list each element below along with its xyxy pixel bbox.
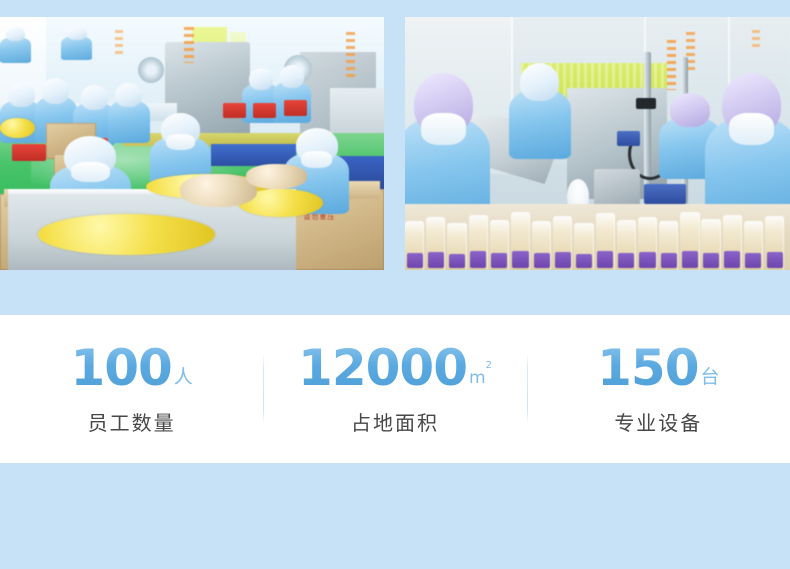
photo-band: 请勿重压 <box>0 17 790 270</box>
stat-floor-area-label: 占地面积 <box>263 407 526 436</box>
photo-scene-right <box>405 17 790 270</box>
stat-employees-number: 100 <box>70 339 171 397</box>
packed-product <box>617 220 636 270</box>
carton-label-text: 请勿重压 <box>303 214 335 221</box>
stat-floor-area-number: 12000 <box>298 339 467 397</box>
packed-product <box>723 215 742 270</box>
orange-coil-b <box>346 32 355 78</box>
packed-product <box>532 221 551 270</box>
red-stool-3 <box>223 103 246 118</box>
photo-factory-packing-line: 请勿重压 <box>0 17 384 270</box>
stat-employees-value: 100人 <box>0 343 263 393</box>
blue-crate <box>211 144 295 167</box>
packed-product <box>765 216 784 270</box>
packed-product <box>638 217 657 270</box>
packed-product <box>680 212 699 270</box>
packed-product-row <box>405 204 790 270</box>
red-stool-5 <box>284 100 307 115</box>
photo-cleanroom-packaging-machine <box>405 17 790 270</box>
packed-product <box>596 213 615 270</box>
worker-bg-4 <box>108 83 150 144</box>
orange-coil-right-c <box>752 30 760 48</box>
stat-equipment-value: 150台 <box>527 343 790 393</box>
stat-equipment-label: 专业设备 <box>527 407 790 436</box>
worker-bg-7 <box>0 27 31 62</box>
stat-equipment-number: 150 <box>597 339 698 397</box>
orange-coil-right-a <box>667 40 676 90</box>
packed-product <box>511 212 530 270</box>
orange-coil-c <box>115 30 123 56</box>
packed-product <box>426 217 445 270</box>
packed-product <box>553 216 572 270</box>
worker-cleanroom-background <box>509 63 571 159</box>
packed-product <box>490 220 509 270</box>
company-stats-panel: 100人 员工数量 12000m2 占地面积 150台 专业设备 <box>0 315 790 463</box>
stat-employees: 100人 员工数量 <box>0 343 263 436</box>
machine-motor <box>594 169 640 209</box>
orange-coil-a <box>184 27 194 63</box>
stat-employees-label: 员工数量 <box>0 407 263 436</box>
stat-floor-area-unit-base: m <box>469 368 486 388</box>
packed-product <box>744 221 763 270</box>
stat-equipment: 150台 专业设备 <box>527 343 790 436</box>
product-pile-tan-b <box>246 164 307 189</box>
packed-product <box>405 221 424 270</box>
stat-floor-area-unit: m2 <box>469 368 492 388</box>
photo-scene-left: 请勿重压 <box>0 17 384 270</box>
packed-product <box>701 219 720 270</box>
product-pile-d <box>0 118 35 138</box>
stat-floor-area: 12000m2 占地面积 <box>263 343 526 436</box>
bottom-background-band <box>0 463 790 569</box>
worker-bg-8 <box>61 27 92 60</box>
red-stool-1 <box>12 144 47 162</box>
packed-product <box>447 223 466 270</box>
stat-floor-area-unit-exponent: 2 <box>486 360 492 371</box>
promo-page: 请勿重压 <box>0 0 790 569</box>
red-stool-4 <box>253 103 276 118</box>
product-pile-a <box>38 214 215 254</box>
blue-crate-right-b <box>617 131 640 146</box>
packed-product <box>574 223 593 270</box>
blue-crate-right-a <box>644 184 686 204</box>
stat-employees-unit: 人 <box>174 366 193 388</box>
machine-clamp-a <box>636 98 656 109</box>
stat-equipment-unit: 台 <box>701 366 720 388</box>
stat-floor-area-value: 12000m2 <box>263 343 526 393</box>
packed-product <box>469 215 488 270</box>
packed-product <box>659 221 678 270</box>
